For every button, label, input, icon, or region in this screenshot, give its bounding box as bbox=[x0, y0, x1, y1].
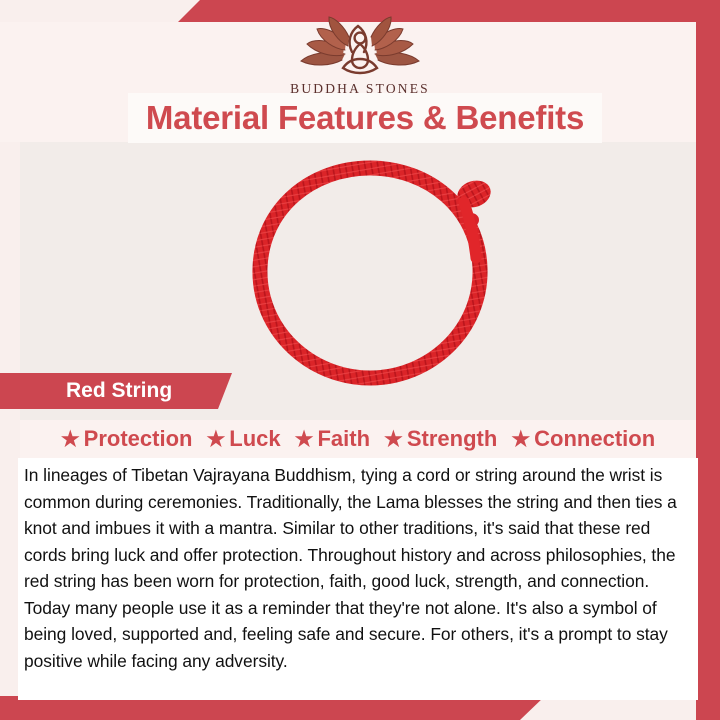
infographic-page: BUDDHA STONES Material Features & Benefi… bbox=[0, 0, 720, 720]
brand-name: BUDDHA STONES bbox=[0, 81, 720, 97]
product-label-ribbon: Red String bbox=[0, 373, 232, 409]
benefit-label: Luck bbox=[229, 426, 280, 452]
benefit-item: ★ Faith bbox=[295, 426, 370, 452]
red-string-bracelet-image bbox=[220, 150, 520, 400]
star-icon: ★ bbox=[384, 429, 403, 450]
benefit-label: Strength bbox=[407, 426, 497, 452]
description-text: In lineages of Tibetan Vajrayana Buddhis… bbox=[24, 462, 692, 674]
brand-logo: BUDDHA STONES bbox=[0, 14, 720, 97]
benefit-item: ★ Luck bbox=[206, 426, 280, 452]
star-icon: ★ bbox=[61, 429, 80, 450]
title-banner: Material Features & Benefits bbox=[128, 93, 602, 143]
benefit-item: ★ Strength bbox=[384, 426, 497, 452]
star-icon: ★ bbox=[295, 429, 314, 450]
benefit-label: Faith bbox=[317, 426, 370, 452]
description-panel: In lineages of Tibetan Vajrayana Buddhis… bbox=[18, 458, 698, 700]
page-title: Material Features & Benefits bbox=[146, 99, 584, 137]
benefit-label: Protection bbox=[84, 426, 193, 452]
benefit-item: ★ Connection bbox=[511, 426, 655, 452]
benefits-row: ★ Protection ★ Luck ★ Faith ★ Strength ★… bbox=[20, 420, 696, 458]
benefit-item: ★ Protection bbox=[61, 426, 193, 452]
star-icon: ★ bbox=[511, 429, 530, 450]
star-icon: ★ bbox=[206, 429, 225, 450]
benefit-label: Connection bbox=[534, 426, 655, 452]
product-label-text: Red String bbox=[66, 379, 172, 403]
frame-band-right bbox=[696, 0, 720, 720]
lotus-meditation-icon bbox=[295, 14, 425, 80]
